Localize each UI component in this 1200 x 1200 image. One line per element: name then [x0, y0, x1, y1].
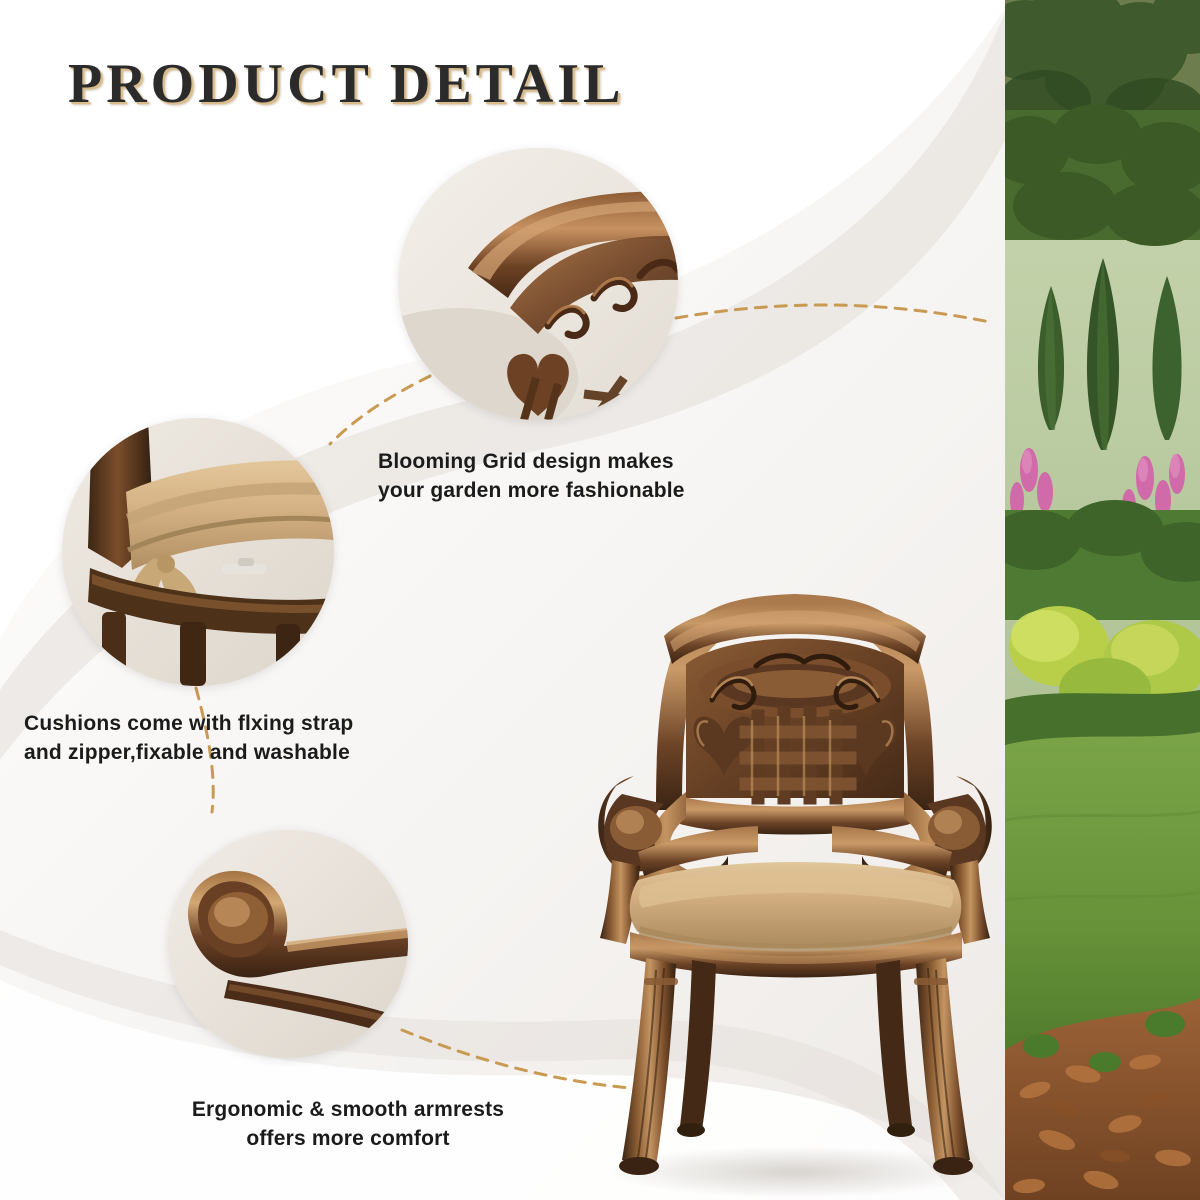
cushion-strap-detail-photo	[62, 418, 334, 686]
caption-armrest-line2: offers more comfort	[178, 1125, 518, 1154]
caption-cushion-strap: Cushions come with flxing strap and zipp…	[24, 710, 414, 768]
caption-cushion-strap-line1: Cushions come with flxing strap	[24, 710, 414, 739]
armrest-detail-photo	[168, 830, 408, 1058]
caption-blooming-grid: Blooming Grid design makes your garden m…	[378, 448, 708, 506]
caption-armrest: Ergonomic & smooth armrests offers more …	[178, 1096, 518, 1154]
caption-cushion-strap-line2: and zipper,fixable and washable	[24, 739, 414, 768]
product-detail-image: PRODUCT DETAIL	[0, 0, 1200, 1200]
caption-armrest-line1: Ergonomic & smooth armrests	[178, 1096, 518, 1125]
garden-landscape-photo	[1005, 0, 1200, 1200]
page-title: PRODUCT DETAIL	[68, 52, 624, 116]
cast-aluminum-patio-chair	[560, 560, 1030, 1200]
backrest-detail-photo	[398, 148, 678, 420]
caption-blooming-grid-line2: your garden more fashionable	[378, 477, 708, 506]
caption-blooming-grid-line1: Blooming Grid design makes	[378, 448, 708, 477]
